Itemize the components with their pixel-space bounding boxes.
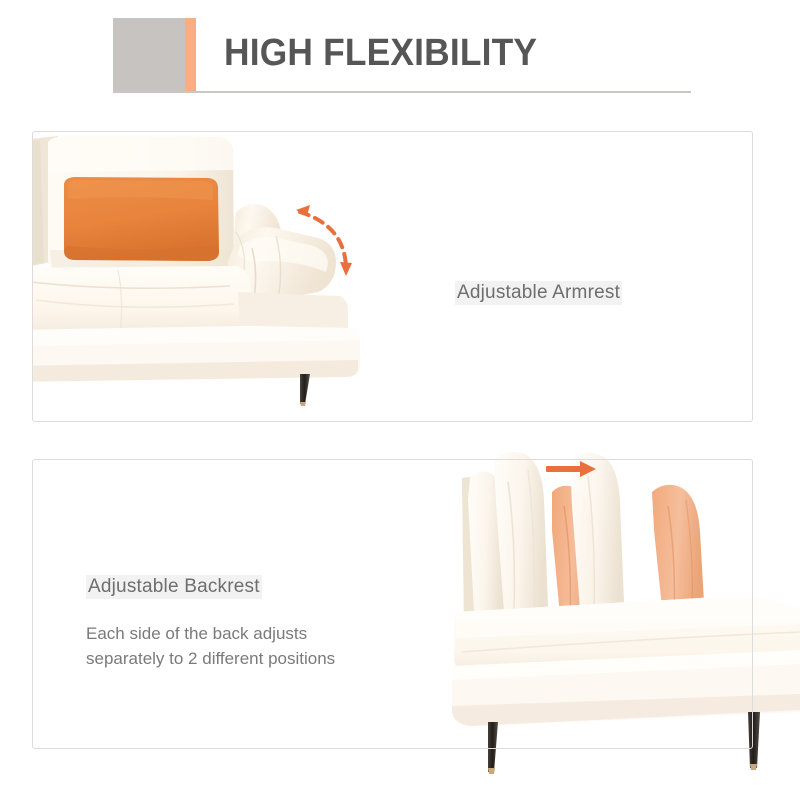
- backrest-feature-label: Adjustable Backrest: [86, 575, 262, 599]
- armrest-feature-label: Adjustable Armrest: [455, 281, 622, 305]
- page-header: HIGH FLEXIBILITY: [0, 0, 800, 110]
- header-divider: [113, 91, 691, 93]
- header-swatch-block: [113, 18, 185, 91]
- header-accent-bar: [185, 18, 196, 91]
- panel-adjustable-armrest: [32, 131, 753, 422]
- page-title: HIGH FLEXIBILITY: [224, 27, 708, 79]
- panel-adjustable-backrest: [32, 459, 753, 749]
- backrest-feature-description: Each side of the back adjusts separately…: [86, 621, 416, 671]
